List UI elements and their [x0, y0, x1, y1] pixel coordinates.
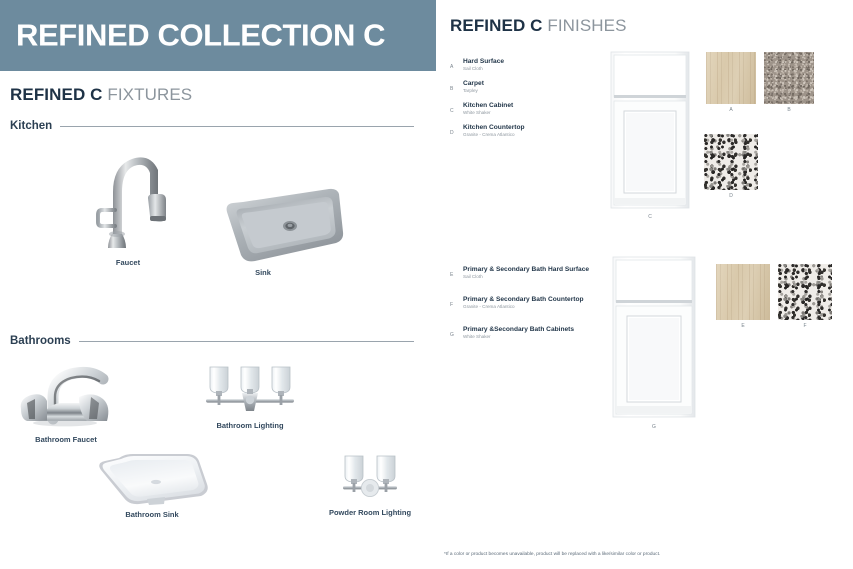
wood-plank-image [706, 52, 756, 104]
product-label: Faucet [116, 258, 140, 267]
bathroom-sink-image [95, 452, 210, 507]
powder-room-light-image [333, 452, 407, 508]
legend-sub: Sail Cloth [463, 66, 625, 72]
group-label-bathrooms: Bathrooms [10, 335, 79, 347]
wood-plank-image [716, 264, 770, 320]
fixtures-heading-bold: REFINED C [10, 85, 103, 104]
product-bathroom-lighting: Bathroom Lighting [198, 363, 302, 435]
swatch-letter: E [741, 323, 744, 329]
finishes-heading: REFINED C FINISHES [450, 16, 627, 36]
legend-name: Carpet [463, 80, 625, 88]
product-label: Bathroom Faucet [35, 435, 97, 444]
fixtures-heading: REFINED C FIXTURES [10, 85, 192, 105]
legend-sub: Tarpley [463, 88, 625, 94]
swatch-bath-countertop: F [778, 264, 832, 320]
swatch-group-kitchen: C A B D [606, 48, 846, 228]
product-label: Bathroom Sink [125, 510, 178, 519]
swatch-kitchen-cabinet: C [610, 51, 690, 209]
legend-item-e: E Primary & Secondary Bath Hard Surface … [450, 266, 625, 281]
collection-title-bar: REFINED COLLECTION C [0, 0, 436, 71]
legend-key: E [450, 266, 463, 278]
swatch-hard-surface: A [706, 52, 756, 104]
fixtures-heading-light: FIXTURES [107, 85, 192, 104]
finishes-heading-light: FINISHES [547, 16, 626, 35]
product-label: Powder Room Lighting [329, 508, 411, 517]
finishes-panel: REFINED C FINISHES A Hard Surface Sail C… [436, 0, 853, 569]
swatch-carpet: B [764, 52, 814, 104]
legend-item-d: D Kitchen Countertop Granite - Crema Atl… [450, 124, 625, 139]
cabinet-door-image [610, 51, 690, 209]
granite-image [778, 264, 832, 320]
legend-name: Kitchen Countertop [463, 124, 625, 132]
group-header-kitchen: Kitchen [10, 120, 414, 132]
product-kitchen-sink: Sink [225, 186, 345, 281]
swatch-letter: A [729, 107, 732, 113]
swatch-group-bath: G E F [606, 252, 846, 442]
swatch-letter: D [729, 193, 733, 199]
swatch-kitchen-countertop: D [704, 134, 758, 190]
legend-item-c: C Kitchen Cabinet White Shaker [450, 102, 625, 117]
legend-name: Primary & Secondary Bath Countertop [463, 296, 625, 304]
legend-key: G [450, 326, 463, 338]
legend-sub: White Shaker [463, 334, 625, 340]
swatch-letter: G [652, 424, 656, 430]
legend-name: Kitchen Cabinet [463, 102, 625, 110]
legend-name: Primary & Secondary Bath Hard Surface [463, 266, 625, 274]
divider-line [60, 126, 414, 127]
cabinet-door-image [612, 256, 696, 418]
kitchen-sink-image [225, 186, 345, 264]
swatch-letter: C [648, 214, 652, 220]
product-bathroom-sink: Bathroom Sink [95, 452, 210, 520]
swatch-letter: B [787, 107, 790, 113]
fixtures-panel: REFINED COLLECTION C REFINED C FIXTURES … [0, 0, 436, 569]
legend-item-f: F Primary & Secondary Bath Countertop Gr… [450, 296, 625, 311]
collection-board-page: REFINED COLLECTION C REFINED C FIXTURES … [0, 0, 853, 569]
legend-key: C [450, 102, 463, 114]
product-powder-room-lighting: Powder Room Lighting [333, 452, 407, 520]
carpet-image [764, 52, 814, 104]
legend-sub: Granite - Crema Atlantico [463, 304, 625, 310]
swatch-bath-hard-surface: E [716, 264, 770, 320]
legend-bath-finishes: E Primary & Secondary Bath Hard Surface … [450, 266, 625, 348]
bathroom-vanity-light-image [198, 363, 302, 421]
legend-kitchen-finishes: A Hard Surface Sail Cloth B Carpet Tarpl… [450, 58, 625, 146]
granite-image [704, 134, 758, 190]
product-kitchen-faucet: Faucet [88, 140, 168, 275]
product-label: Sink [255, 268, 271, 277]
legend-key: F [450, 296, 463, 308]
group-header-bathrooms: Bathrooms [10, 335, 414, 347]
collection-title: REFINED COLLECTION C [16, 17, 385, 53]
bathroom-faucet-image [17, 363, 115, 428]
finishes-heading-bold: REFINED C [450, 16, 543, 35]
legend-item-b: B Carpet Tarpley [450, 80, 625, 95]
legend-key: A [450, 58, 463, 70]
legend-name: Primary &Secondary Bath Cabinets [463, 326, 625, 334]
divider-line [79, 341, 414, 342]
legend-sub: Granite - Crema Atlantico [463, 132, 625, 138]
kitchen-faucet-image [88, 140, 168, 252]
disclaimer-text: *If a color or product becomes unavailab… [444, 552, 660, 557]
legend-item-g: G Primary &Secondary Bath Cabinets White… [450, 326, 625, 341]
legend-sub: Sail Cloth [463, 274, 625, 280]
group-label-kitchen: Kitchen [10, 120, 60, 132]
swatch-bath-cabinet: G [612, 256, 696, 418]
legend-key: D [450, 124, 463, 136]
swatch-letter: F [803, 323, 806, 329]
product-label: Bathroom Lighting [216, 421, 283, 430]
legend-key: B [450, 80, 463, 92]
legend-sub: White Shaker [463, 110, 625, 116]
legend-item-a: A Hard Surface Sail Cloth [450, 58, 625, 73]
legend-name: Hard Surface [463, 58, 625, 66]
product-bathroom-faucet: Bathroom Faucet [17, 363, 115, 448]
